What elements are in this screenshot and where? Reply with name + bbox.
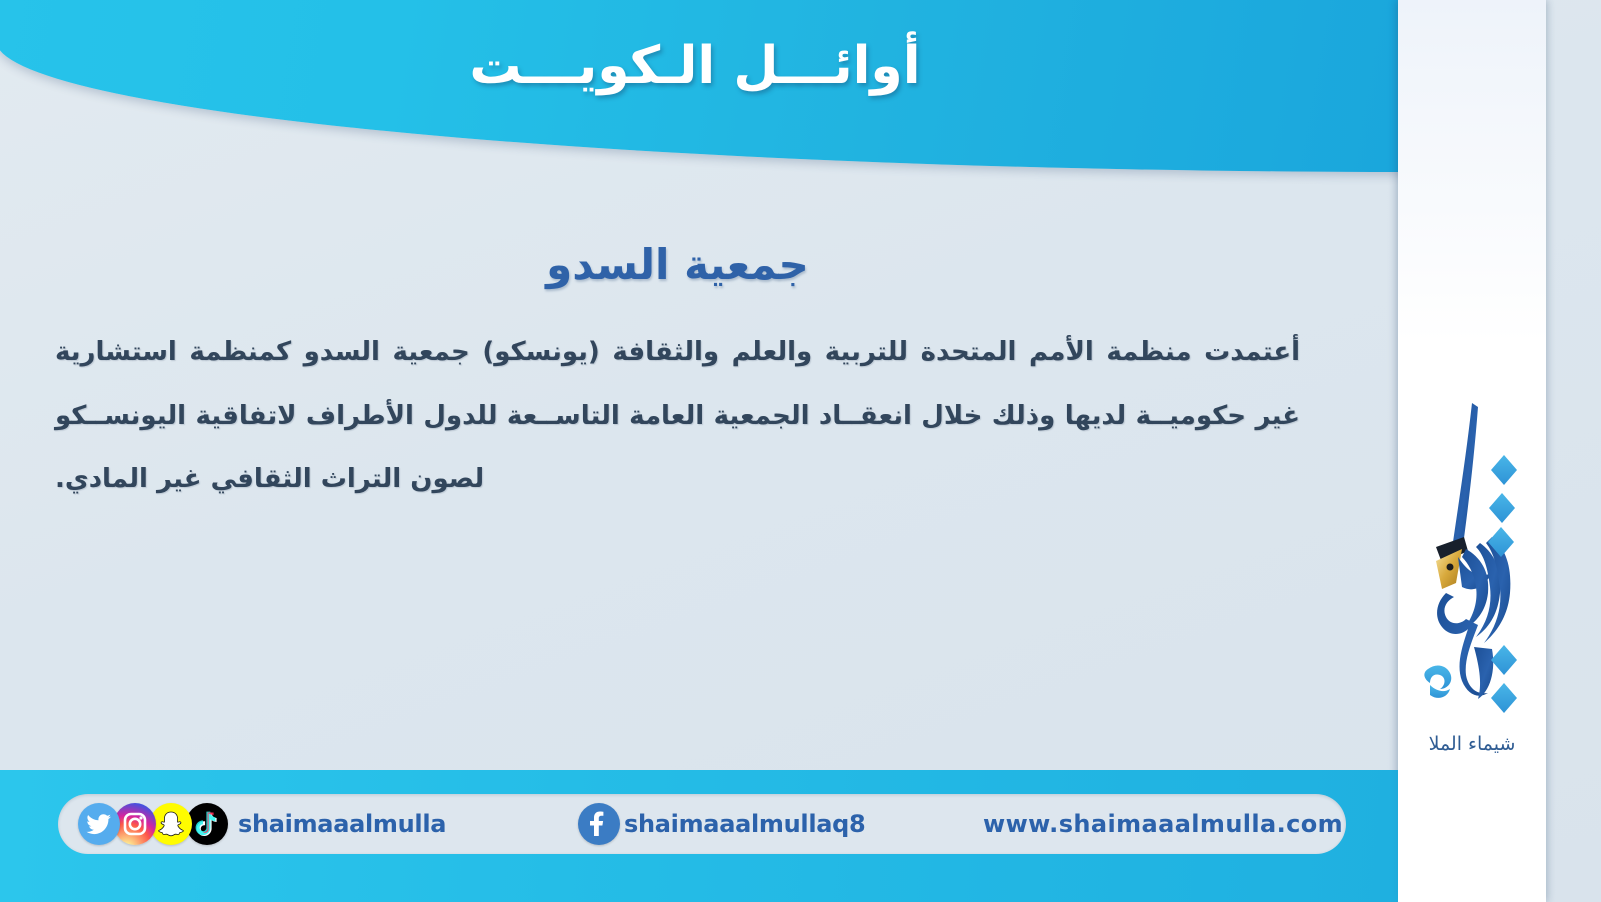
website-url-label: www.shaimaaalmulla.com	[983, 810, 1343, 838]
poster-canvas: أوائـــل الـكويـــت جمعية السدو أعتمدت م…	[0, 0, 1601, 902]
page-title: أوائـــل الـكويـــت	[0, 38, 1390, 95]
footer-contact-pill: shaimaaalmulla shaimaaalmullaq8 www.shai…	[58, 794, 1346, 854]
social-handle-label: shaimaaalmulla	[238, 810, 446, 838]
twitter-icon[interactable]	[78, 803, 120, 845]
section-heading: جمعية السدو	[0, 200, 1355, 289]
brand-logo-card: شيماء الملا	[1398, 0, 1546, 902]
facebook-handle-label: shaimaaalmullaq8	[624, 810, 865, 838]
social-links-group: shaimaaalmulla	[78, 803, 446, 845]
snapchat-icon[interactable]	[150, 803, 192, 845]
facebook-link-group: shaimaaalmullaq8	[578, 803, 865, 845]
brand-name-label: شيماء الملا	[1429, 733, 1516, 755]
calligraphy-logo-icon	[1406, 397, 1538, 727]
instagram-icon[interactable]	[114, 803, 156, 845]
footer-band: shaimaaalmulla shaimaaalmullaq8 www.shai…	[0, 770, 1405, 902]
body-paragraph: أعتمدت منظمة الأمم المتحدة للتربية والعل…	[55, 321, 1300, 512]
main-content: جمعية السدو أعتمدت منظمة الأمم المتحدة ل…	[0, 200, 1355, 512]
facebook-icon[interactable]	[578, 803, 620, 845]
tiktok-icon[interactable]	[186, 803, 228, 845]
website-link-group[interactable]: www.shaimaaalmulla.com	[983, 810, 1343, 838]
